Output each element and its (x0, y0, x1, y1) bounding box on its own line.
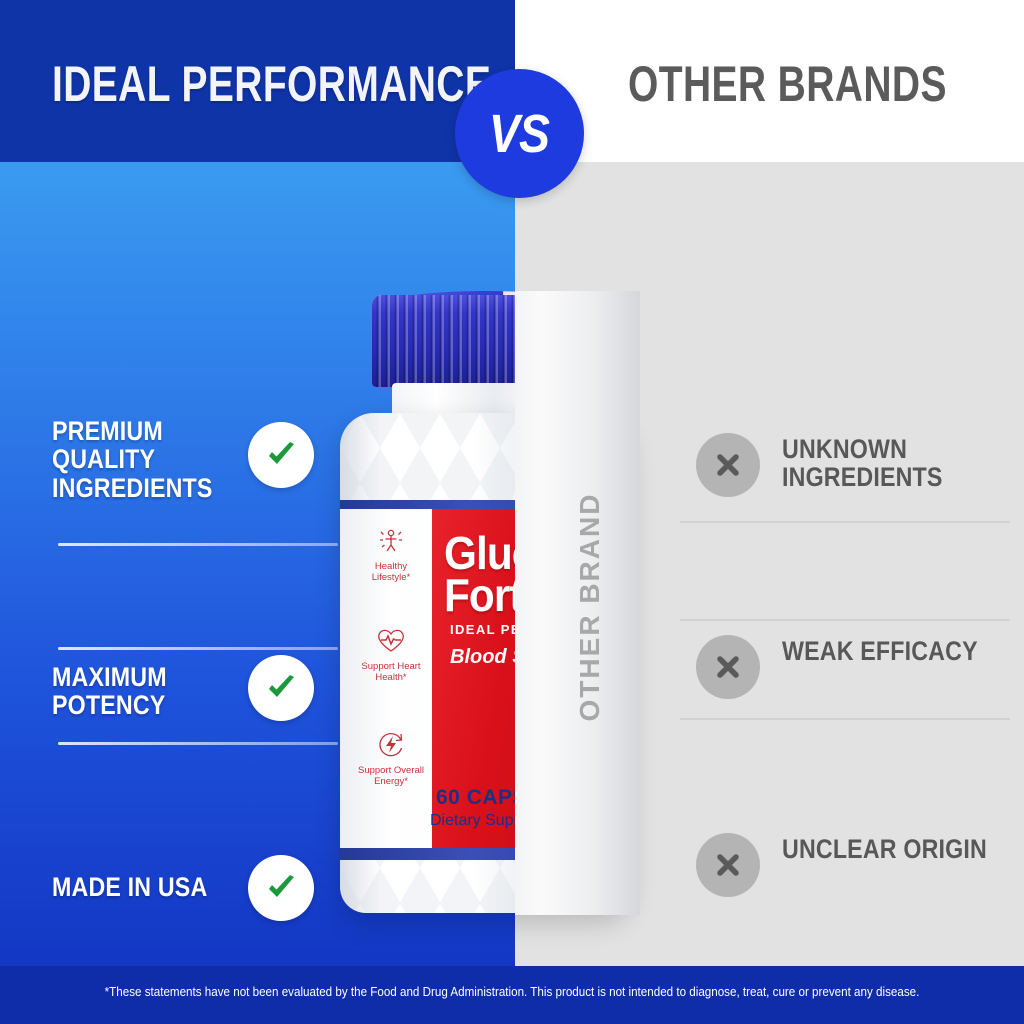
drawback-item-4[interactable]: NO TESTING DONE (660, 725, 1024, 825)
check-badge-3 (248, 855, 314, 921)
label-benefit-3: Support Overall Energy* (358, 728, 424, 788)
energy-icon (358, 728, 424, 762)
check-icon (263, 870, 299, 906)
drawbacks-divider-2 (680, 619, 1010, 621)
benefit-item-3[interactable]: MADE IN USA (0, 605, 360, 705)
other-brand-bottle-overlay: OTHER BRAND (515, 291, 640, 915)
drawback-item-2[interactable]: WEAK EFFICACY (660, 525, 1024, 625)
check-icon (263, 437, 299, 473)
drawbacks-list: UNKNOWN INGREDIENTS WEAK EFFICACY UNCLEA… (660, 425, 1024, 825)
drawbacks-divider-3 (680, 718, 1010, 720)
label-supplement-type: Dietary Supp (430, 812, 523, 830)
left-column-title: IDEAL PERFORMANCE (52, 55, 491, 113)
benefits-list: PREMIUM QUALITY INGREDIENTS MAXIMUM POTE… (0, 405, 360, 805)
benefit-item-3-label: MADE IN USA (52, 873, 220, 901)
drawback-item-1[interactable]: UNKNOWN INGREDIENTS (660, 425, 1024, 525)
benefit-item-2[interactable]: MAXIMUM POTENCY (0, 505, 360, 605)
x-badge-1 (696, 433, 760, 497)
heart-health-icon (358, 624, 424, 658)
drawbacks-divider-1 (680, 521, 1010, 523)
fda-disclaimer: *These statements have not been evaluate… (36, 985, 988, 999)
x-icon (712, 449, 744, 481)
label-benefit-1: Healthy Lifestyle* (358, 524, 424, 584)
vs-badge: VS (455, 69, 584, 198)
label-brand-line-2: Fort (444, 568, 523, 622)
healthy-lifestyle-icon (358, 524, 424, 558)
label-benefit-2-caption: Support Heart Health* (358, 662, 424, 684)
benefit-item-1-label: PREMIUM QUALITY INGREDIENTS (52, 417, 220, 502)
drawback-item-3[interactable]: UNCLEAR ORIGIN (660, 625, 1024, 725)
other-brand-label: OTHER BRAND (574, 462, 606, 752)
check-badge-1 (248, 422, 314, 488)
right-column-title: OTHER BRANDS (628, 55, 947, 113)
comparison-infographic: IDEAL PERFORMANCE OTHER BRANDS VS (0, 0, 1024, 1024)
drawback-item-1-label: UNKNOWN INGREDIENTS (782, 435, 988, 492)
benefit-item-4[interactable]: TESTED & PROVEN (0, 705, 360, 805)
vs-badge-label: VS (489, 103, 549, 165)
label-benefit-1-caption: Healthy Lifestyle* (358, 562, 424, 584)
product-bottle-image: Gluc Fort IDEAL PERFOR Blood Sup 60 CAPS… (330, 295, 640, 915)
x-icon (712, 849, 744, 881)
benefit-item-1[interactable]: PREMIUM QUALITY INGREDIENTS (0, 405, 360, 505)
label-benefit-2: Support Heart Health* (358, 624, 424, 684)
label-capsule-count: 60 CAPS (436, 786, 527, 810)
drawback-item-3-label: UNCLEAR ORIGIN (782, 835, 988, 863)
label-benefit-3-caption: Support Overall Energy* (358, 766, 424, 788)
x-badge-3 (696, 833, 760, 897)
